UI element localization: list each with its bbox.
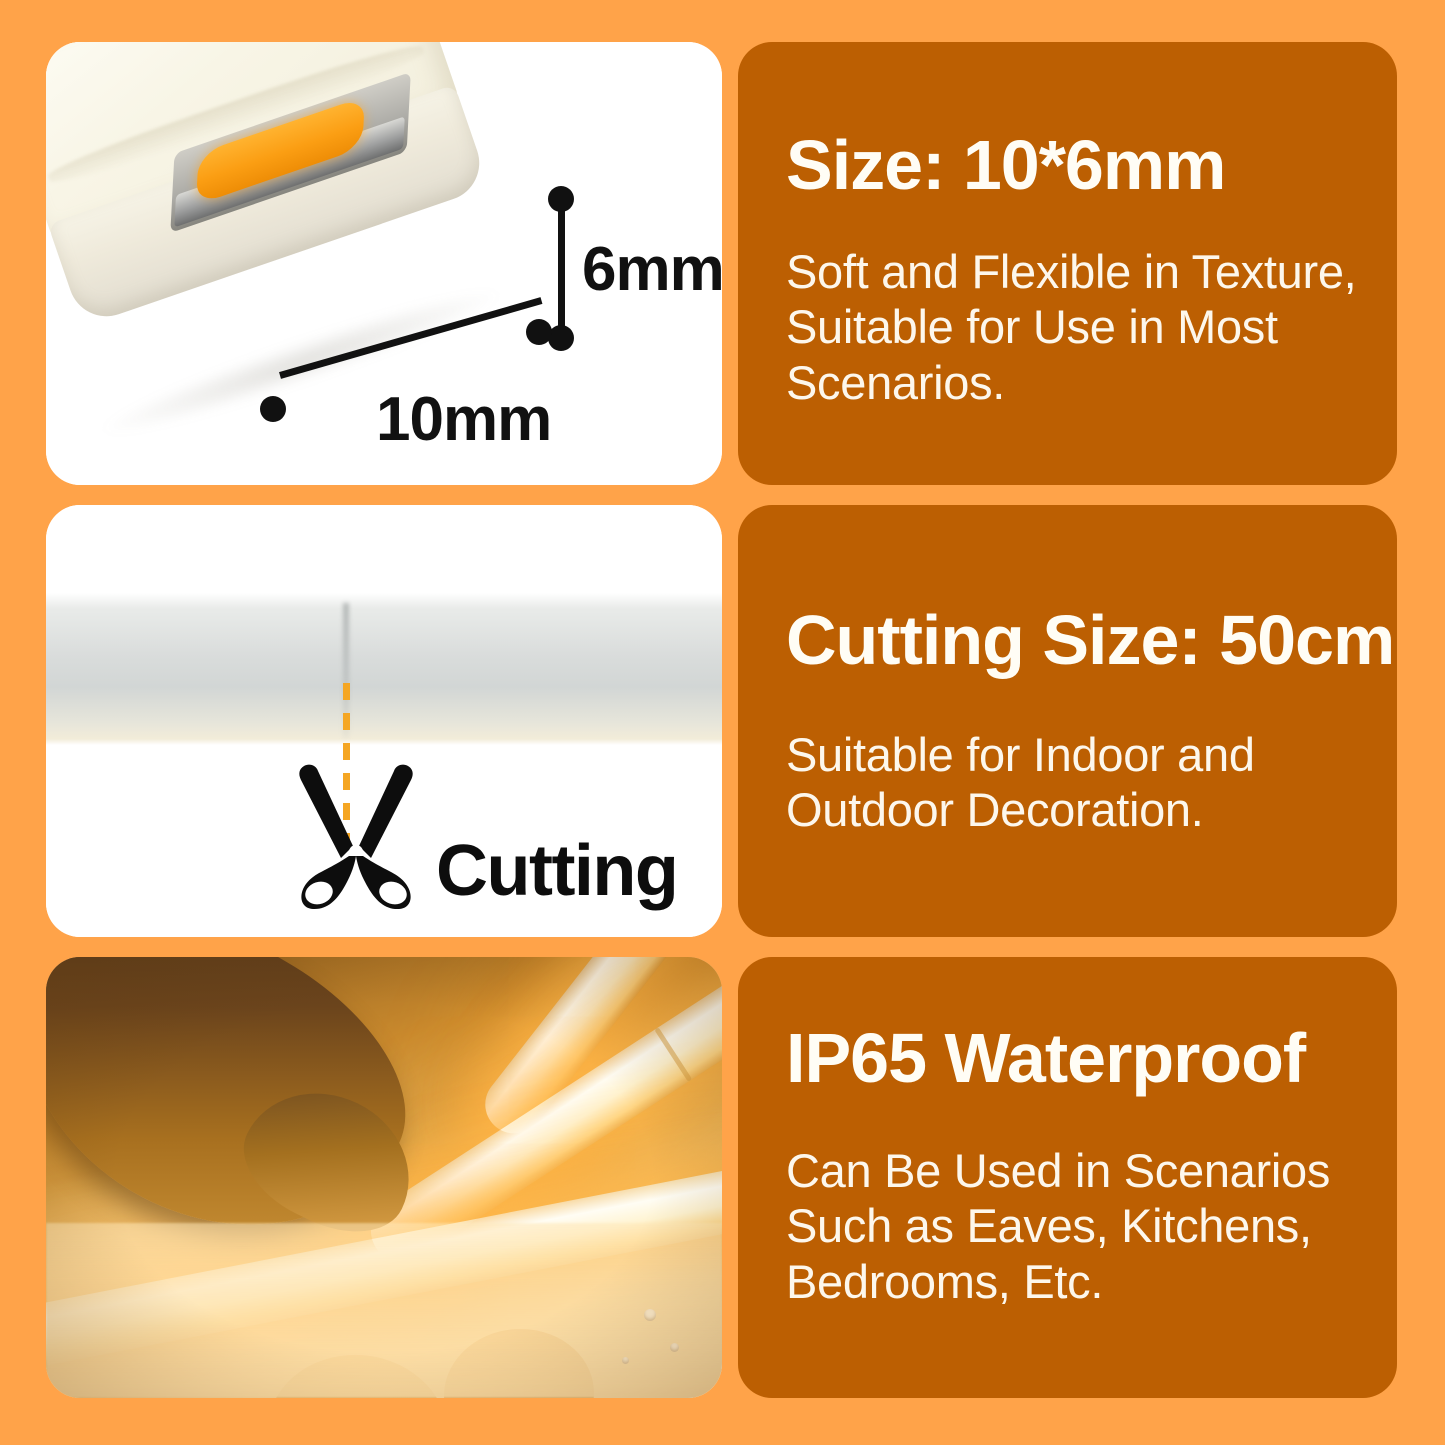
waterproof-photo	[46, 957, 722, 1398]
height-dimension-line	[558, 200, 565, 335]
water-surface	[46, 1223, 722, 1398]
waterproof-photo-card	[46, 957, 722, 1398]
feature-row-waterproof: IP65 Waterproof Can Be Used in Scenarios…	[46, 957, 1397, 1398]
feature-description-waterproof: Can Be Used in Scenarios Such as Eaves, …	[786, 1143, 1357, 1309]
feature-description-size: Soft and Flexible in Texture, Suitable f…	[786, 244, 1357, 410]
width-dimension-dot-left	[260, 396, 286, 422]
height-dimension-dot-bottom	[548, 325, 574, 351]
cutting-label: Cutting	[436, 830, 677, 912]
feature-text-panel-waterproof: IP65 Waterproof Can Be Used in Scenarios…	[738, 957, 1397, 1398]
led-cross-section-diagram: 6mm 10mm	[46, 42, 722, 485]
width-dimension-label: 10mm	[376, 384, 551, 455]
feature-title-cutting: Cutting Size: 50cm	[786, 605, 1357, 675]
water-droplet	[644, 1309, 656, 1321]
height-dimension-label: 6mm	[582, 234, 722, 305]
cutting-diagram-card: Cutting	[46, 505, 722, 937]
led-cross-section-card: 6mm 10mm	[46, 42, 722, 485]
led-strip-side-view	[46, 593, 722, 745]
cutting-diagram: Cutting	[46, 505, 722, 937]
feature-description-cutting: Suitable for Indoor and Outdoor Decorati…	[786, 727, 1357, 838]
feature-title-size: Size: 10*6mm	[786, 130, 1357, 200]
scissors-icon	[291, 760, 421, 910]
feature-row-size: 6mm 10mm Size: 10*6mm Soft and Flexible …	[46, 42, 1397, 485]
water-droplet	[622, 1357, 629, 1364]
feature-row-cutting: Cutting Cutting Size: 50cm Suitable for …	[46, 505, 1397, 937]
feature-text-panel-size: Size: 10*6mm Soft and Flexible in Textur…	[738, 42, 1397, 485]
feature-text-panel-cutting: Cutting Size: 50cm Suitable for Indoor a…	[738, 505, 1397, 937]
height-dimension-dot-top	[548, 186, 574, 212]
product-feature-infographic: 6mm 10mm Size: 10*6mm Soft and Flexible …	[0, 0, 1445, 1445]
width-dimension-dot-right	[526, 319, 552, 345]
water-droplet	[670, 1343, 679, 1352]
neon-tube-seam	[654, 1027, 692, 1082]
feature-title-waterproof: IP65 Waterproof	[786, 1023, 1357, 1093]
